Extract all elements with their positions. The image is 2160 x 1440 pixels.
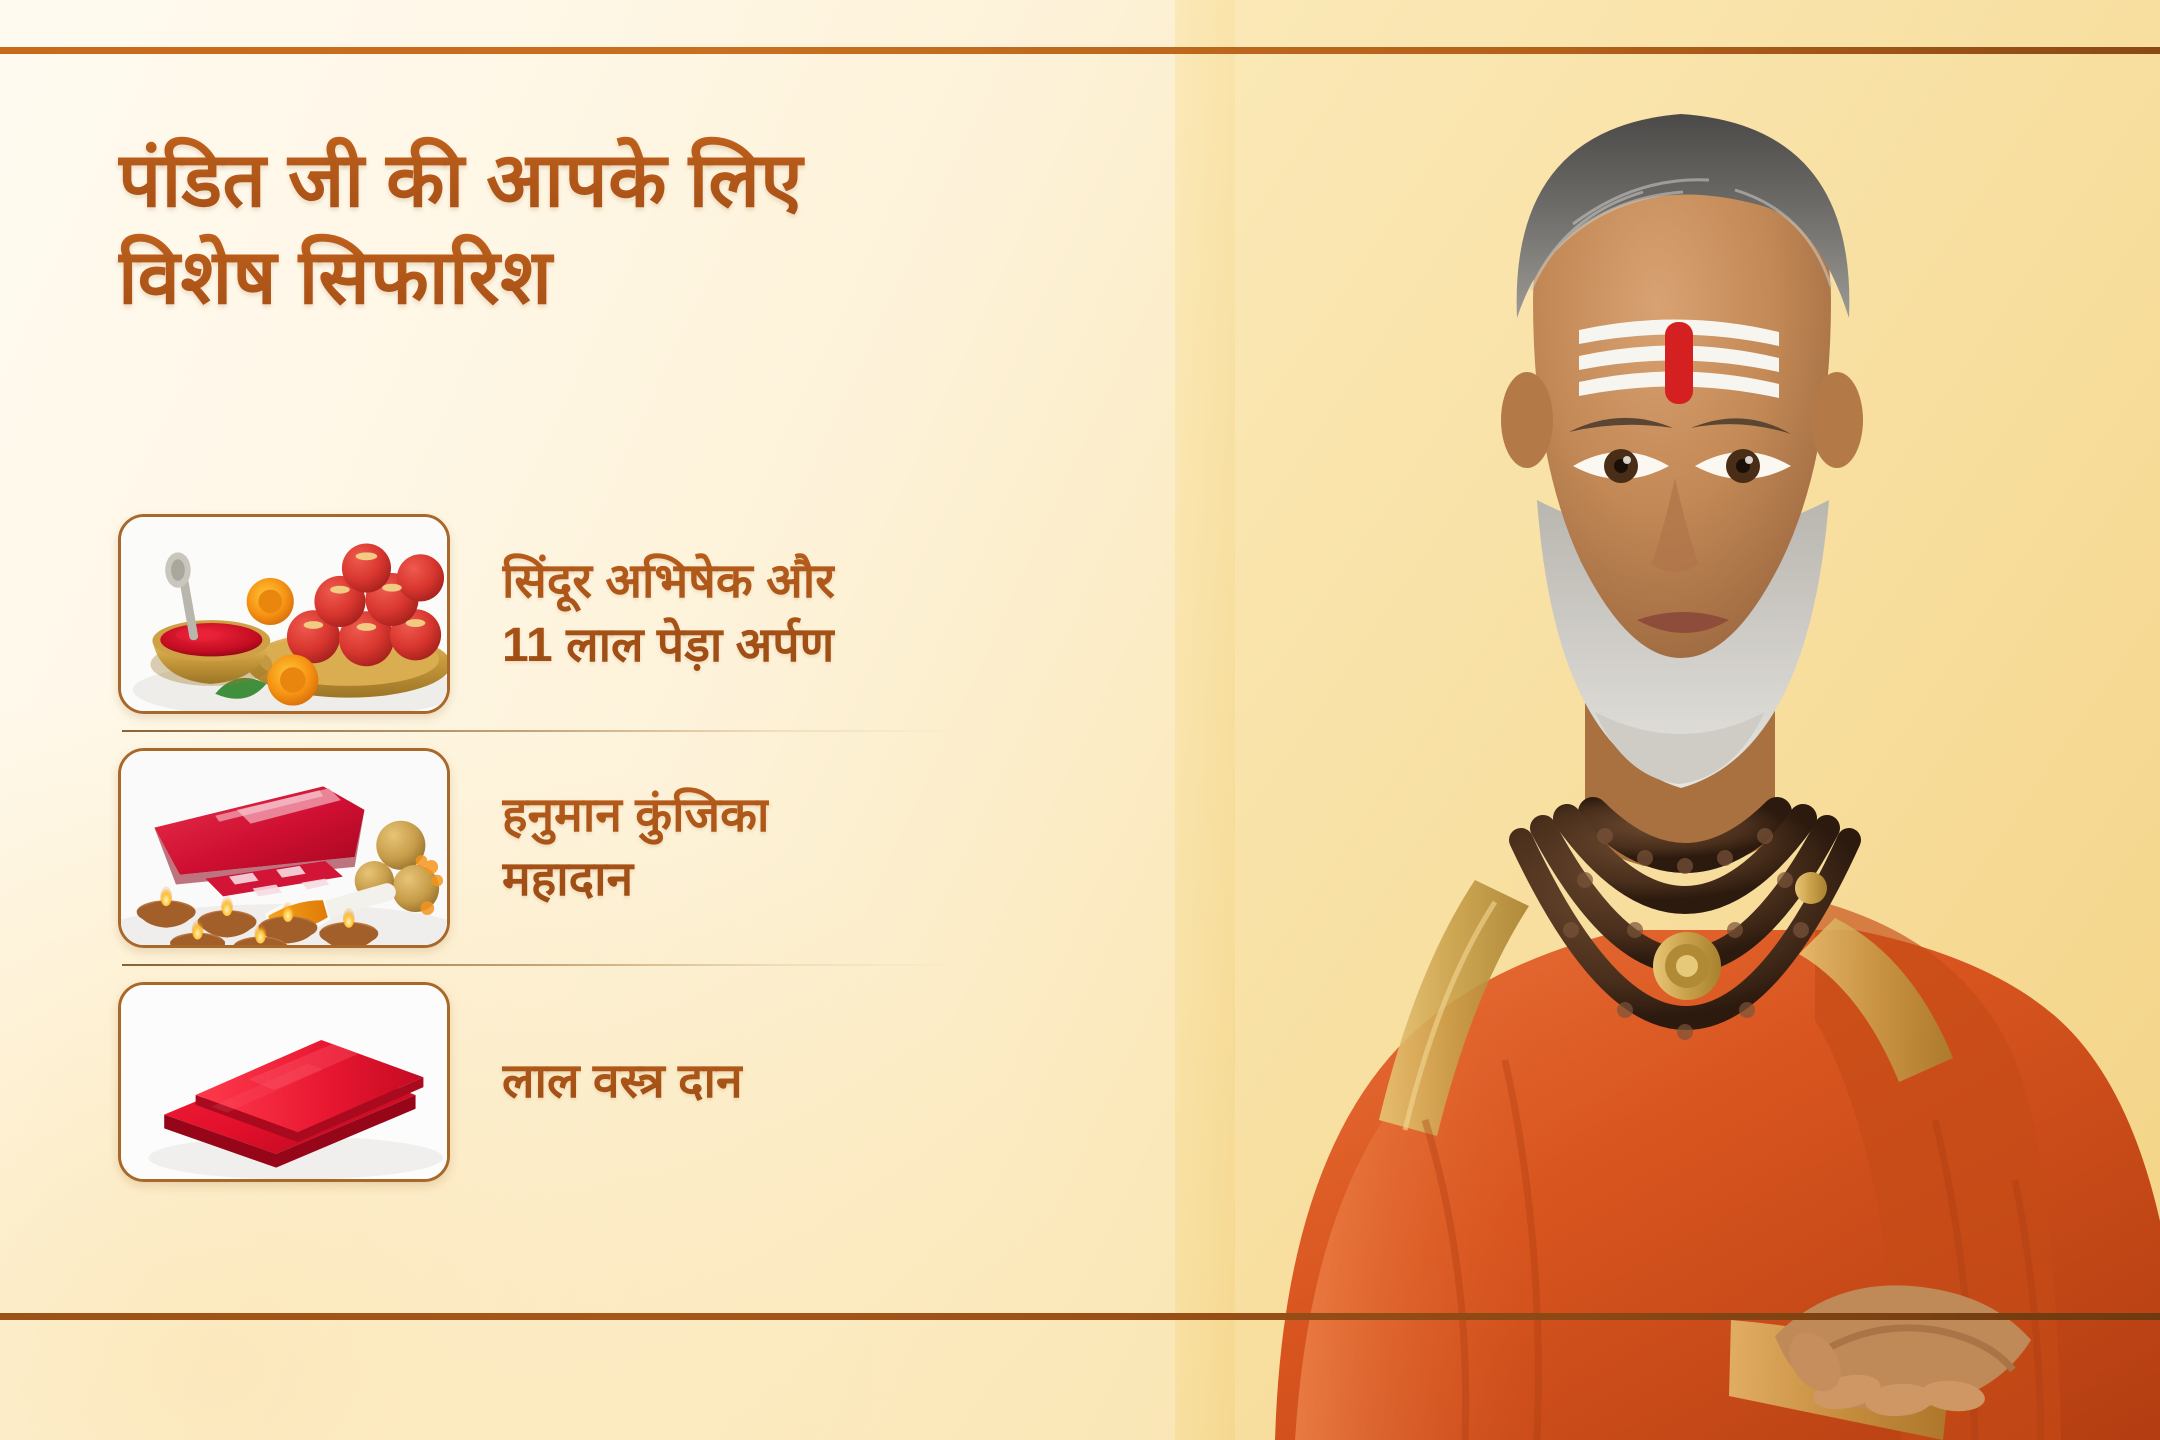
benefit-item-hanuman-kunjika: हनुमान कुंजिका महादान [118, 736, 1128, 960]
benefit-text-line-2: महादान [502, 848, 769, 912]
benefit-text: सिंदूर अभिषेक और 11 लाल पेड़ा अर्पण [502, 550, 835, 679]
benefit-item-lal-vastra-daan: लाल वस्त्र दान [118, 970, 1128, 1194]
folded-red-cloth-thumbnail [118, 982, 450, 1182]
sindoor-bowl-with-red-peda-and-marigold-thumbnail [118, 514, 450, 714]
red-cloth-with-diyas-laddu-turmeric-thumbnail [118, 748, 450, 948]
benefit-divider [122, 964, 962, 966]
headline-line-2: विशेष सिफारिश [118, 229, 1138, 326]
pandit-ji-portrait [1175, 0, 2160, 1440]
benefit-list: सिंदूर अभिषेक और 11 लाल पेड़ा अर्पण [118, 502, 1128, 1194]
frame-line-bottom [0, 1313, 2160, 1320]
headline: पंडित जी की आपके लिए विशेष सिफारिश [118, 132, 1138, 327]
benefit-text-line-1: लाल वस्त्र दान [502, 1050, 743, 1114]
benefit-divider [122, 730, 962, 732]
tilak-red-mark [1665, 322, 1693, 404]
benefit-text: हनुमान कुंजिका महादान [502, 784, 769, 913]
benefit-text-line-1: सिंदूर अभिषेक और [502, 550, 835, 614]
content-column: पंडित जी की आपके लिए विशेष सिफारिश [0, 47, 1195, 1320]
benefit-text-line-2: 11 लाल पेड़ा अर्पण [502, 614, 835, 678]
benefit-item-sindoor-abhishek: सिंदूर अभिषेक और 11 लाल पेड़ा अर्पण [118, 502, 1128, 726]
headline-line-1: पंडित जी की आपके लिए [118, 132, 1138, 229]
promotional-banner: पंडित जी की आपके लिए विशेष सिफारिश [0, 0, 2160, 1440]
frame-line-top [0, 47, 2160, 54]
benefit-text: लाल वस्त्र दान [502, 1050, 743, 1114]
benefit-text-line-1: हनुमान कुंजिका [502, 784, 769, 848]
